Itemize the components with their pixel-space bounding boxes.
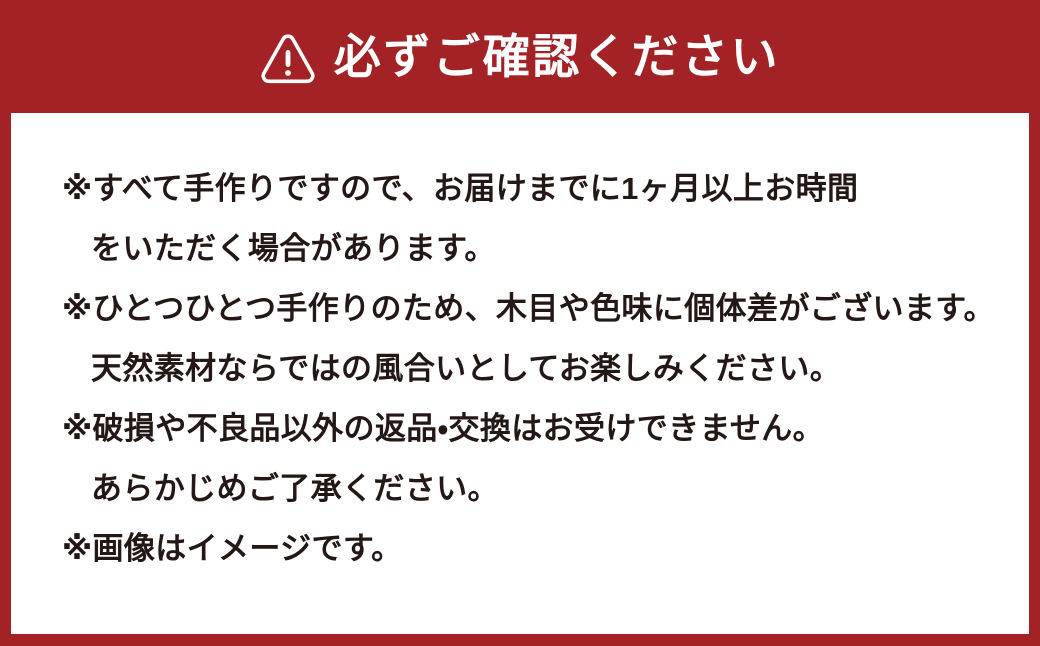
list-item: をいただく場合があります。 — [62, 219, 1005, 279]
list-item: 天然素材ならではの風合いとしてお楽しみください。 — [62, 339, 1005, 399]
list-item: ※ひとつひとつ手作りのため、木目や色味に個体差がございます。 — [62, 279, 1005, 339]
list-item: ※破損や不良品以外の返品・交換はお受けできません。 — [62, 399, 1005, 459]
page-title: 必ずご確認ください — [334, 33, 780, 80]
notice-header: 必ずご確認ください — [11, 0, 1029, 113]
notice-list: ※すべて手作りですので、お届けまでに1ヶ月以上お時間 をいただく場合があります。… — [62, 159, 1005, 579]
list-item: ※すべて手作りですので、お届けまでに1ヶ月以上お時間 — [62, 159, 1005, 219]
list-item: ※画像はイメージです。 — [62, 519, 1005, 579]
list-item: あらかじめご了承ください。 — [62, 459, 1005, 519]
notice-body-panel: ※すべて手作りですので、お届けまでに1ヶ月以上お時間 をいただく場合があります。… — [11, 113, 1029, 634]
warning-triangle-icon — [260, 30, 316, 84]
notice-frame: 必ずご確認ください ※すべて手作りですので、お届けまでに1ヶ月以上お時間 をいた… — [0, 0, 1040, 646]
